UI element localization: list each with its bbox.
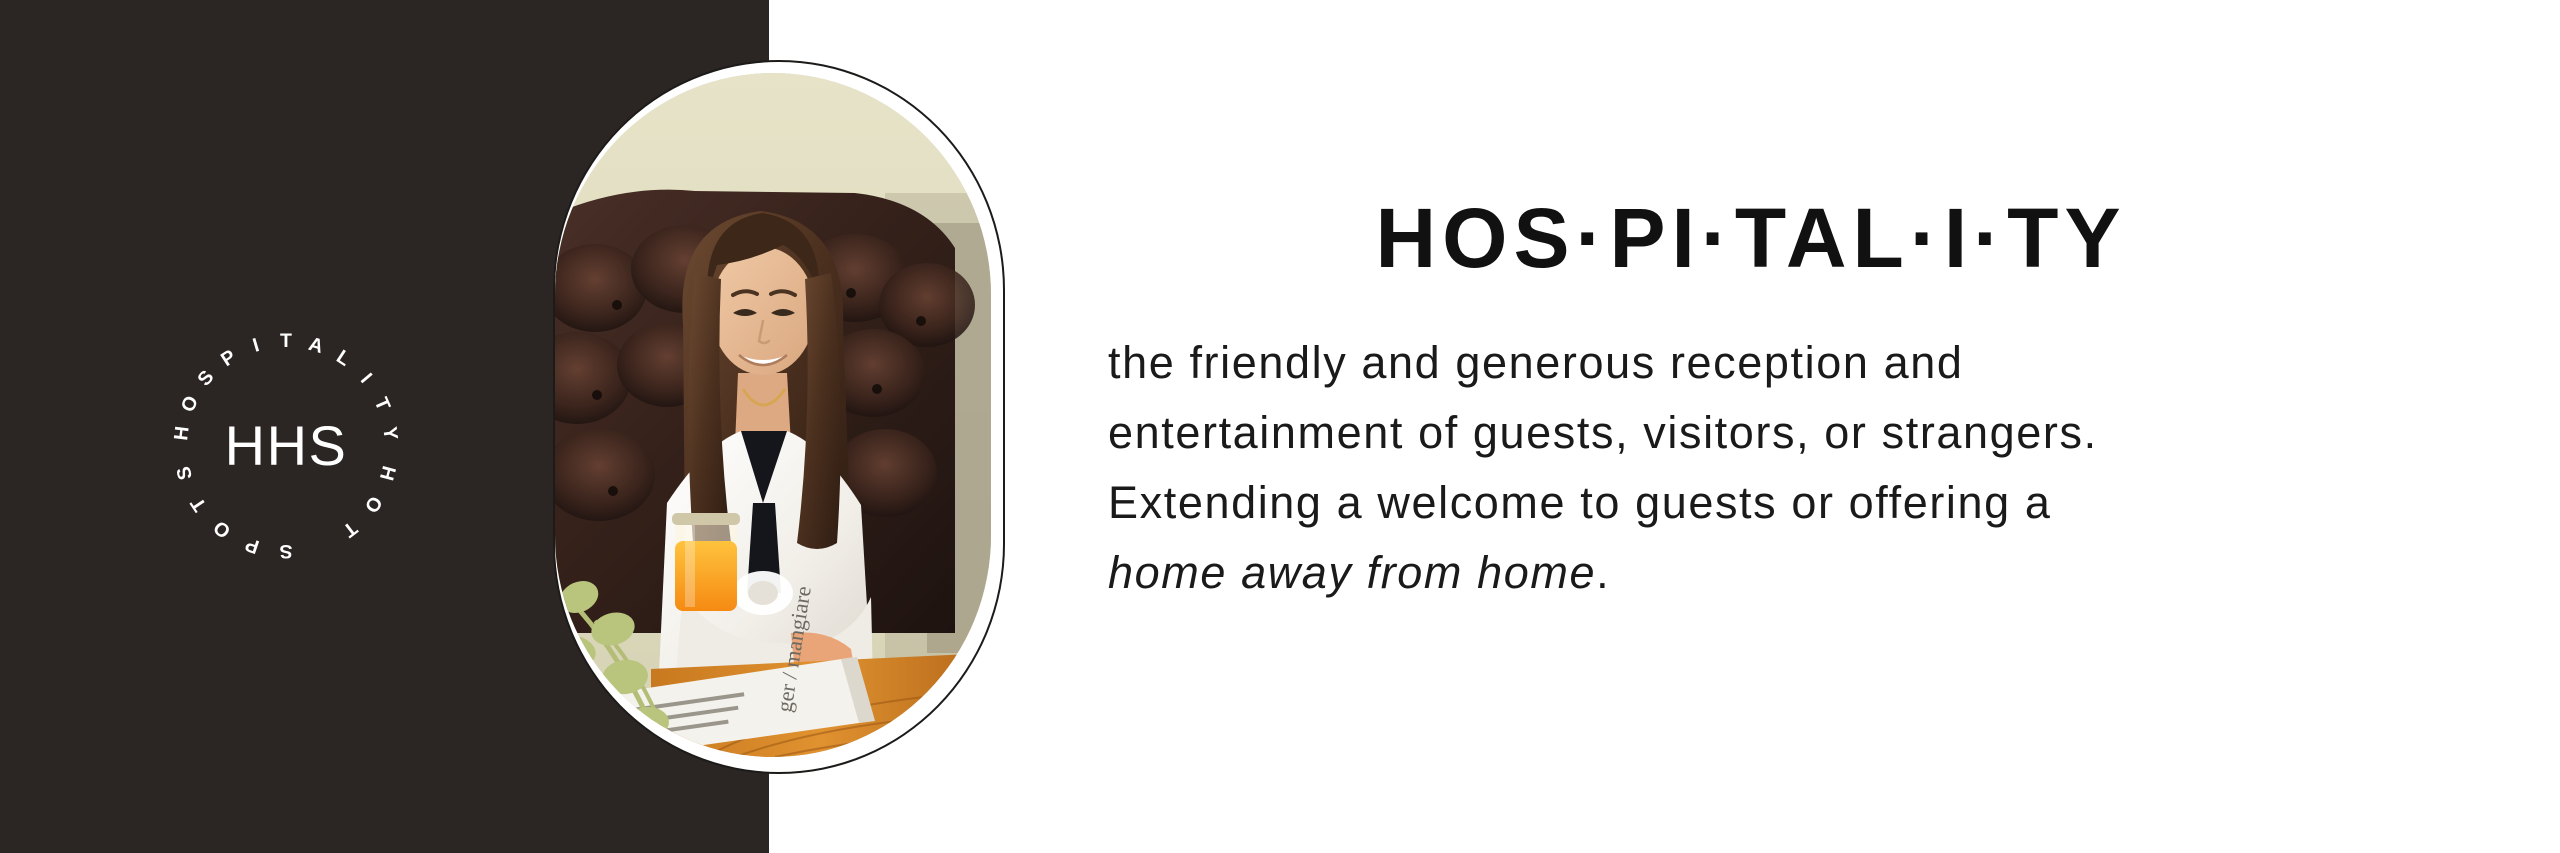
photo-illustration: ger / mangiare [555, 73, 991, 757]
definition-line-2: entertainment of guests, visitors, or st… [1108, 398, 2400, 468]
photo-portrait: ger / mangiare [555, 73, 991, 757]
definition-emphasis: home away from home [1108, 547, 1596, 598]
definition-line-1: the friendly and generous reception and [1108, 328, 2400, 398]
definition-block: HOS·PI·TAL·I·TY the friendly and generou… [1108, 196, 2400, 608]
definition-period: . [1596, 547, 1610, 598]
poster-canvas: HOSPITALITYHOTSPOTS HHS [0, 0, 2560, 853]
brand-monogram: HHS [152, 312, 420, 580]
page-title: HOS·PI·TAL·I·TY [1108, 196, 2400, 280]
brand-logo: HOSPITALITYHOTSPOTS HHS [152, 312, 420, 580]
definition-line-3: Extending a welcome to guests or offerin… [1108, 468, 2400, 538]
definition-text: the friendly and generous reception and … [1108, 280, 2400, 608]
